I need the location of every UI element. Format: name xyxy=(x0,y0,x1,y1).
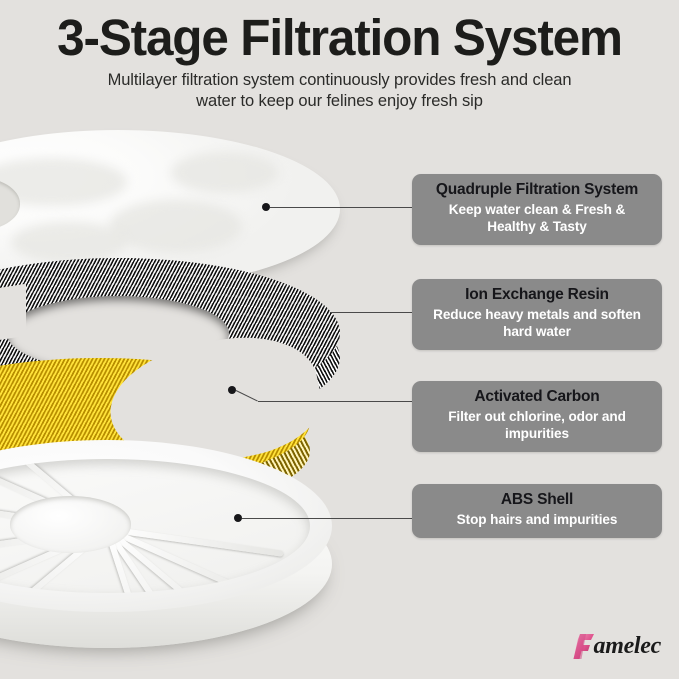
leader-dot-quadruple-filtration xyxy=(262,203,270,211)
leader-line-abs-shell xyxy=(242,518,413,519)
leader-line-activated-carbon xyxy=(258,401,413,402)
callout-ion-exchange-resin[interactable]: Ion Exchange Resin Reduce heavy metals a… xyxy=(412,279,662,350)
callout-activated-carbon[interactable]: Activated Carbon Filter out chlorine, od… xyxy=(412,381,662,452)
callout-abs-shell[interactable]: ABS Shell Stop hairs and impurities xyxy=(412,484,662,538)
leader-line-quadruple-filtration xyxy=(270,207,413,208)
callout-title: ABS Shell xyxy=(424,491,650,510)
callout-description: Reduce heavy metals and soften hard wate… xyxy=(424,305,650,341)
brand-logo-text: amelec xyxy=(594,634,662,658)
callout-title: Activated Carbon xyxy=(424,388,650,407)
famelec-f-mark-icon xyxy=(573,633,596,660)
brand-logo: amelec xyxy=(573,631,662,661)
callout-description: Filter out chlorine, odor and impurities xyxy=(424,407,650,443)
callout-description: Stop hairs and impurities xyxy=(424,510,650,529)
infographic-canvas: 3-Stage Filtration System Multilayer fil… xyxy=(0,0,679,679)
callout-group: Quadruple Filtration System Keep water c… xyxy=(0,0,679,679)
callout-title: Ion Exchange Resin xyxy=(424,286,650,305)
leader-line-activated-carbon-angled xyxy=(236,390,258,401)
leader-dot-abs-shell xyxy=(234,514,242,522)
leader-line-ion-exchange-resin xyxy=(330,312,413,313)
callout-quadruple-filtration[interactable]: Quadruple Filtration System Keep water c… xyxy=(412,174,662,245)
callout-description: Keep water clean & Fresh & Healthy & Tas… xyxy=(424,200,650,236)
callout-title: Quadruple Filtration System xyxy=(424,181,650,200)
